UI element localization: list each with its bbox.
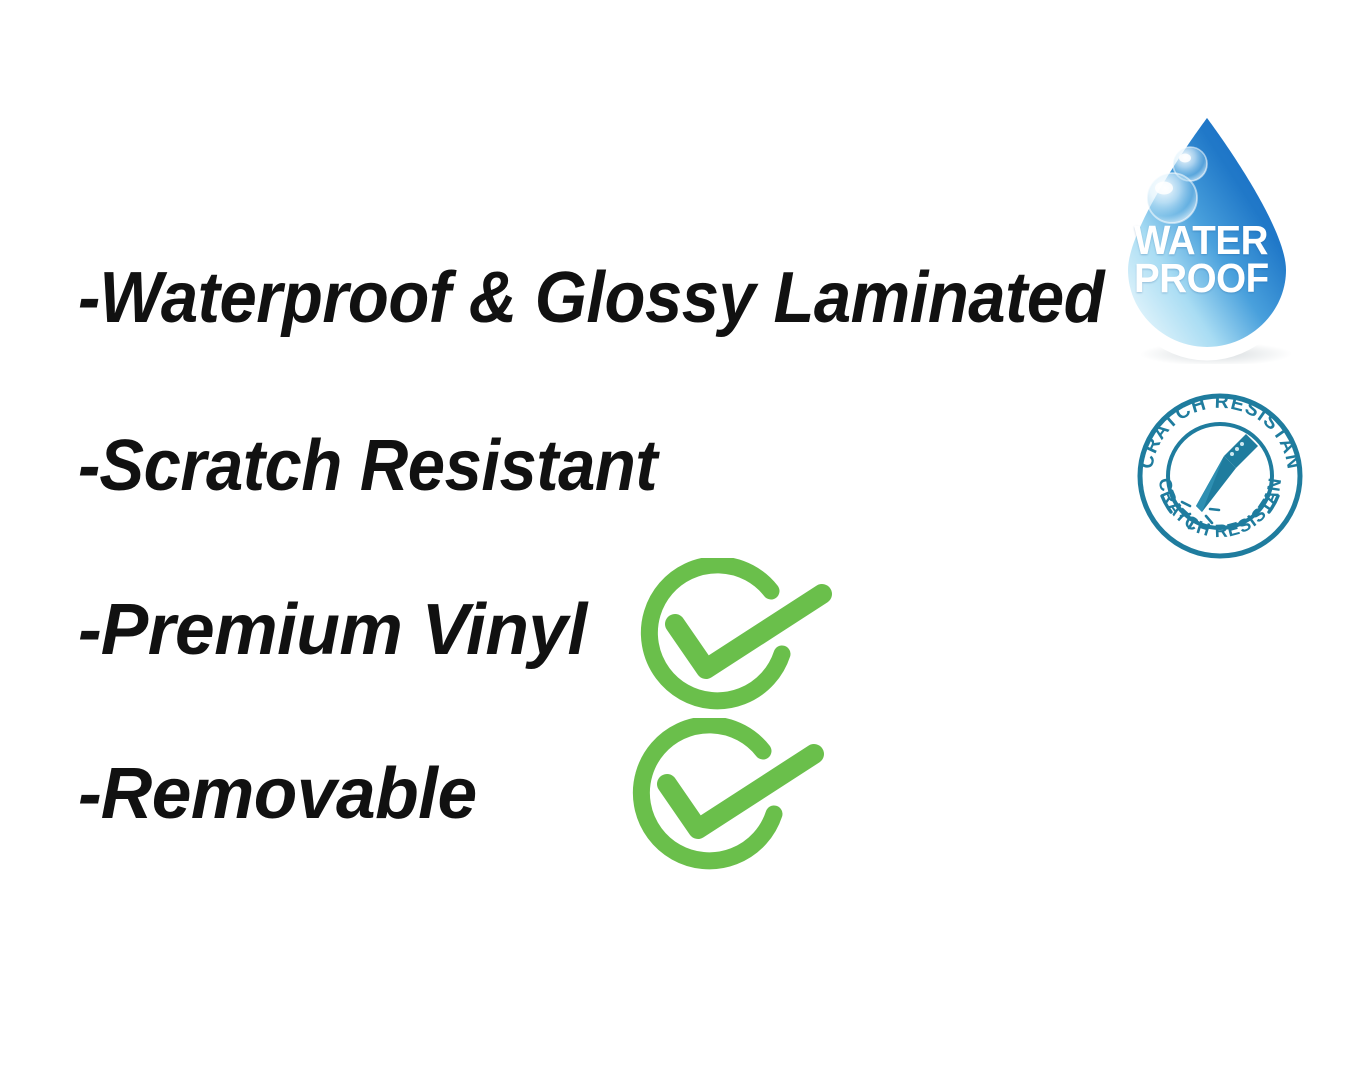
circle-check-icon bbox=[632, 718, 828, 870]
feature-item-waterproof-glossy-laminated: -Waterproof & Glossy Laminated bbox=[78, 262, 1104, 334]
feature-dash: - bbox=[78, 426, 99, 506]
feature-dash: - bbox=[78, 590, 101, 670]
product-feature-graphic: -Waterproof & Glossy Laminated -Scratch … bbox=[0, 0, 1359, 1080]
waterproof-badge: WATER PROOF bbox=[1106, 104, 1322, 364]
feature-item-removable: -Removable bbox=[78, 758, 477, 830]
feature-label: Removable bbox=[101, 754, 477, 834]
scratch-resistant-badge: SCRATCH RESISTANT SCRATCH RESISTANT bbox=[1128, 378, 1312, 564]
waterproof-badge-text: WATER PROOF bbox=[1134, 222, 1303, 297]
feature-label: Premium Vinyl bbox=[101, 590, 587, 670]
feature-label: Waterproof & Glossy Laminated bbox=[99, 258, 1104, 338]
bubble-large-icon bbox=[1147, 173, 1197, 223]
circle-check-icon bbox=[640, 558, 836, 710]
waterproof-badge-line2: PROOF bbox=[1134, 260, 1303, 298]
feature-dash: - bbox=[78, 258, 99, 338]
feature-item-premium-vinyl: -Premium Vinyl bbox=[78, 594, 587, 666]
feature-item-scratch-resistant: -Scratch Resistant bbox=[78, 430, 657, 502]
feature-label: Scratch Resistant bbox=[99, 426, 657, 506]
feature-dash: - bbox=[78, 754, 101, 834]
